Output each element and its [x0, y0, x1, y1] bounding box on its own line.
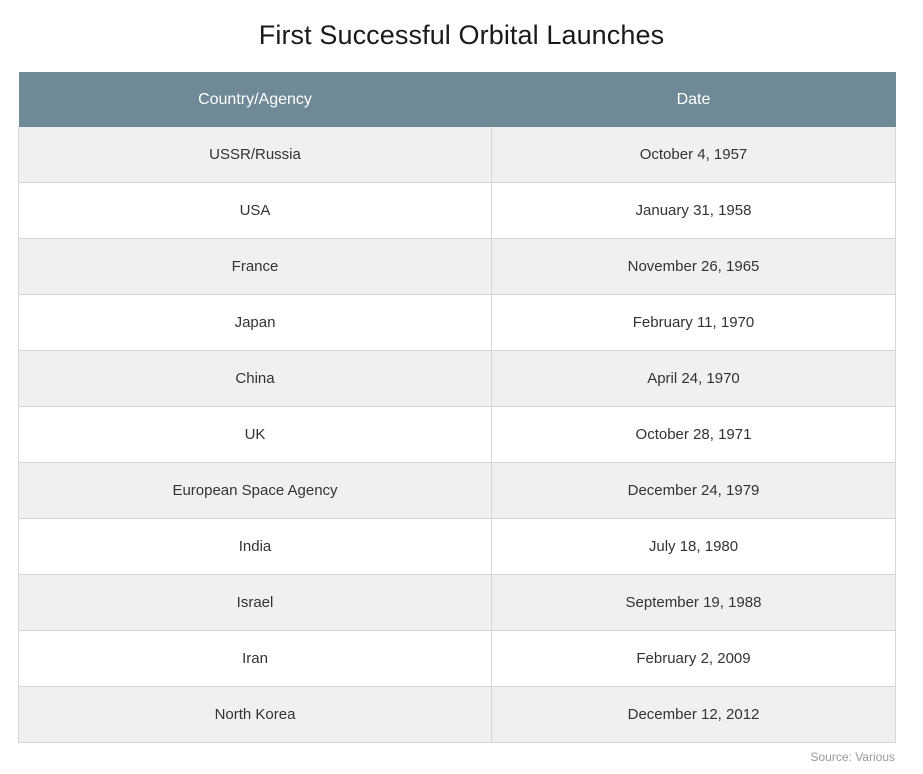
table-row[interactable]: FranceNovember 26, 1965	[19, 239, 896, 295]
table-header-row: Country/Agency Date	[19, 72, 896, 127]
cell-date: January 31, 1958	[492, 183, 896, 239]
cell-date: February 2, 2009	[492, 631, 896, 687]
cell-country: Israel	[19, 575, 492, 631]
table-container: Country/Agency Date USSR/RussiaOctober 4…	[18, 72, 895, 743]
cell-date: September 19, 1988	[492, 575, 896, 631]
table-header: Country/Agency Date	[19, 72, 896, 127]
cell-date: November 26, 1965	[492, 239, 896, 295]
cell-date: April 24, 1970	[492, 351, 896, 407]
cell-date: December 24, 1979	[492, 463, 896, 519]
cell-date: December 12, 2012	[492, 687, 896, 743]
table-row[interactable]: ChinaApril 24, 1970	[19, 351, 896, 407]
table-row[interactable]: JapanFebruary 11, 1970	[19, 295, 896, 351]
cell-country: USA	[19, 183, 492, 239]
cell-country: European Space Agency	[19, 463, 492, 519]
table-row[interactable]: IndiaJuly 18, 1980	[19, 519, 896, 575]
cell-date: October 4, 1957	[492, 127, 896, 183]
page-title: First Successful Orbital Launches	[0, 18, 923, 52]
cell-date: February 11, 1970	[492, 295, 896, 351]
cell-country: UK	[19, 407, 492, 463]
table-row[interactable]: European Space AgencyDecember 24, 1979	[19, 463, 896, 519]
cell-country: France	[19, 239, 492, 295]
orbital-launches-table: Country/Agency Date USSR/RussiaOctober 4…	[18, 72, 896, 743]
cell-country: USSR/Russia	[19, 127, 492, 183]
column-header-date[interactable]: Date	[492, 72, 896, 127]
table-body: USSR/RussiaOctober 4, 1957USAJanuary 31,…	[19, 127, 896, 743]
cell-date: July 18, 1980	[492, 519, 896, 575]
cell-country: China	[19, 351, 492, 407]
table-row[interactable]: IsraelSeptember 19, 1988	[19, 575, 896, 631]
table-row[interactable]: USAJanuary 31, 1958	[19, 183, 896, 239]
table-row[interactable]: North KoreaDecember 12, 2012	[19, 687, 896, 743]
cell-country: North Korea	[19, 687, 492, 743]
table-row[interactable]: IranFebruary 2, 2009	[19, 631, 896, 687]
cell-country: Japan	[19, 295, 492, 351]
column-header-country[interactable]: Country/Agency	[19, 72, 492, 127]
table-row[interactable]: UKOctober 28, 1971	[19, 407, 896, 463]
cell-country: India	[19, 519, 492, 575]
cell-country: Iran	[19, 631, 492, 687]
page-root: First Successful Orbital Launches Countr…	[0, 0, 923, 774]
source-note: Source: Various	[811, 750, 896, 764]
cell-date: October 28, 1971	[492, 407, 896, 463]
table-row[interactable]: USSR/RussiaOctober 4, 1957	[19, 127, 896, 183]
